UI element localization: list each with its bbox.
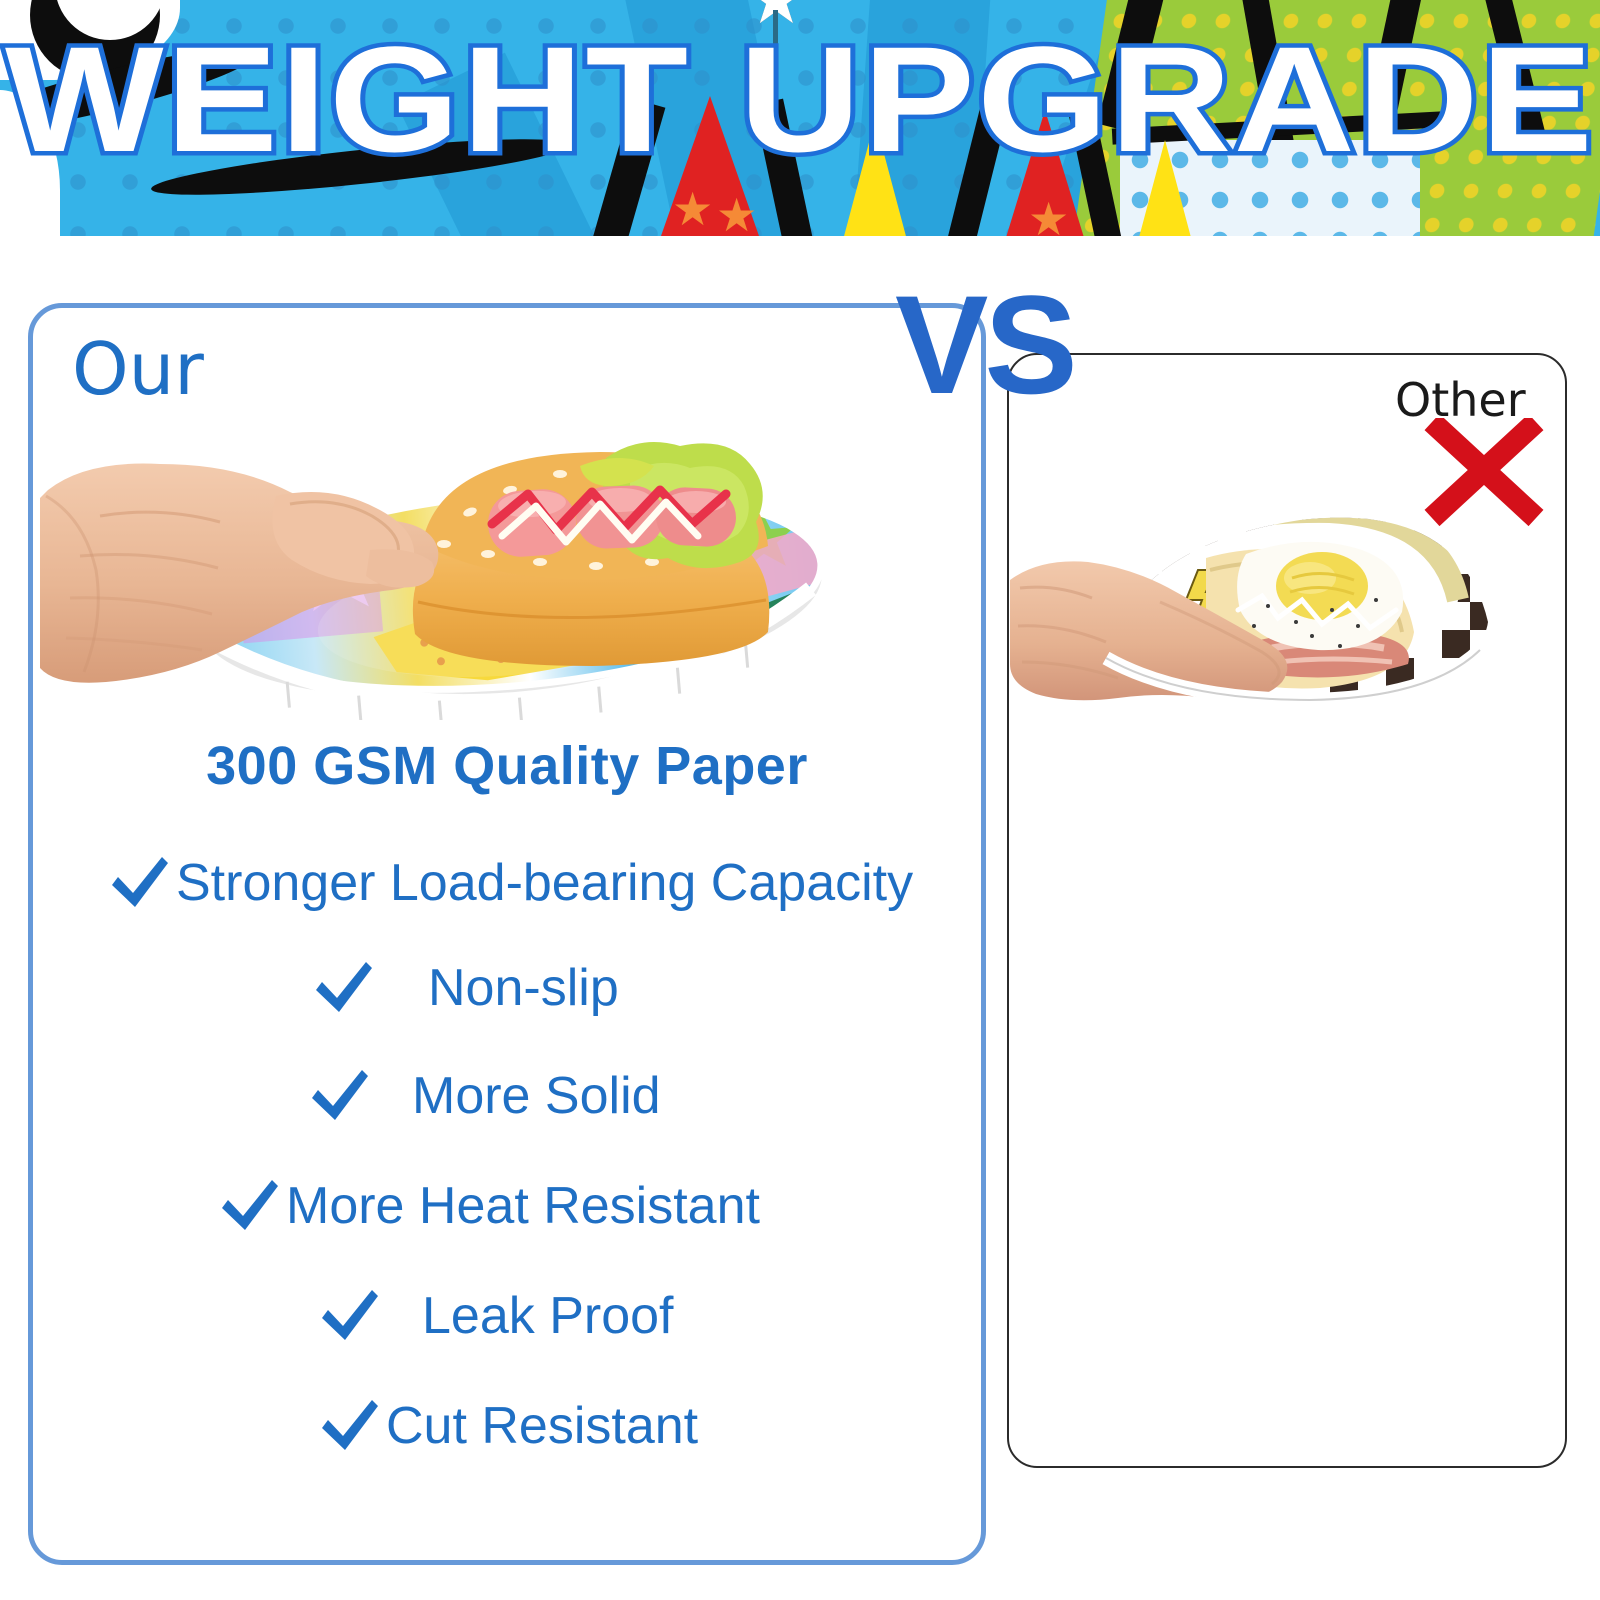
banner-title: WEIGHT UPGRADE [0, 24, 1600, 174]
our-feature-label: Leak Proof [422, 1290, 674, 1342]
our-feature-row: More Solid [308, 1068, 661, 1124]
our-feature-row: Cut Resistant [318, 1398, 698, 1454]
our-feature-label: Non-slip [428, 962, 619, 1014]
star-icon: ★ [716, 192, 757, 236]
check-icon [218, 1178, 280, 1234]
check-icon [108, 855, 170, 911]
check-icon [318, 1398, 380, 1454]
header-banner: ★ ★ ★ ★ WEIGHT UPGRADE [0, 0, 1600, 236]
our-feature-row: More Heat Resistant [218, 1178, 760, 1234]
our-heading: 300 GSM Quality Paper [28, 735, 986, 797]
star-icon: ★ [672, 186, 713, 232]
check-icon [308, 1068, 370, 1124]
our-feature-label: Stronger Load-bearing Capacity [176, 857, 913, 909]
our-feature-row: Leak Proof [318, 1288, 674, 1344]
check-icon [312, 960, 374, 1016]
our-feature-row: Non-slip [312, 960, 619, 1016]
our-feature-label: More Heat Resistant [286, 1180, 760, 1232]
our-feature-label: More Solid [412, 1070, 661, 1122]
our-feature-row: Stronger Load-bearing Capacity [108, 855, 913, 911]
our-product-photo [40, 400, 960, 720]
check-icon [318, 1288, 380, 1344]
our-feature-label: Cut Resistant [386, 1400, 698, 1452]
vs-badge: VS [895, 275, 1074, 415]
red-x-icon [1422, 418, 1546, 528]
our-label: Our [72, 327, 204, 411]
star-icon: ★ [1028, 196, 1069, 236]
